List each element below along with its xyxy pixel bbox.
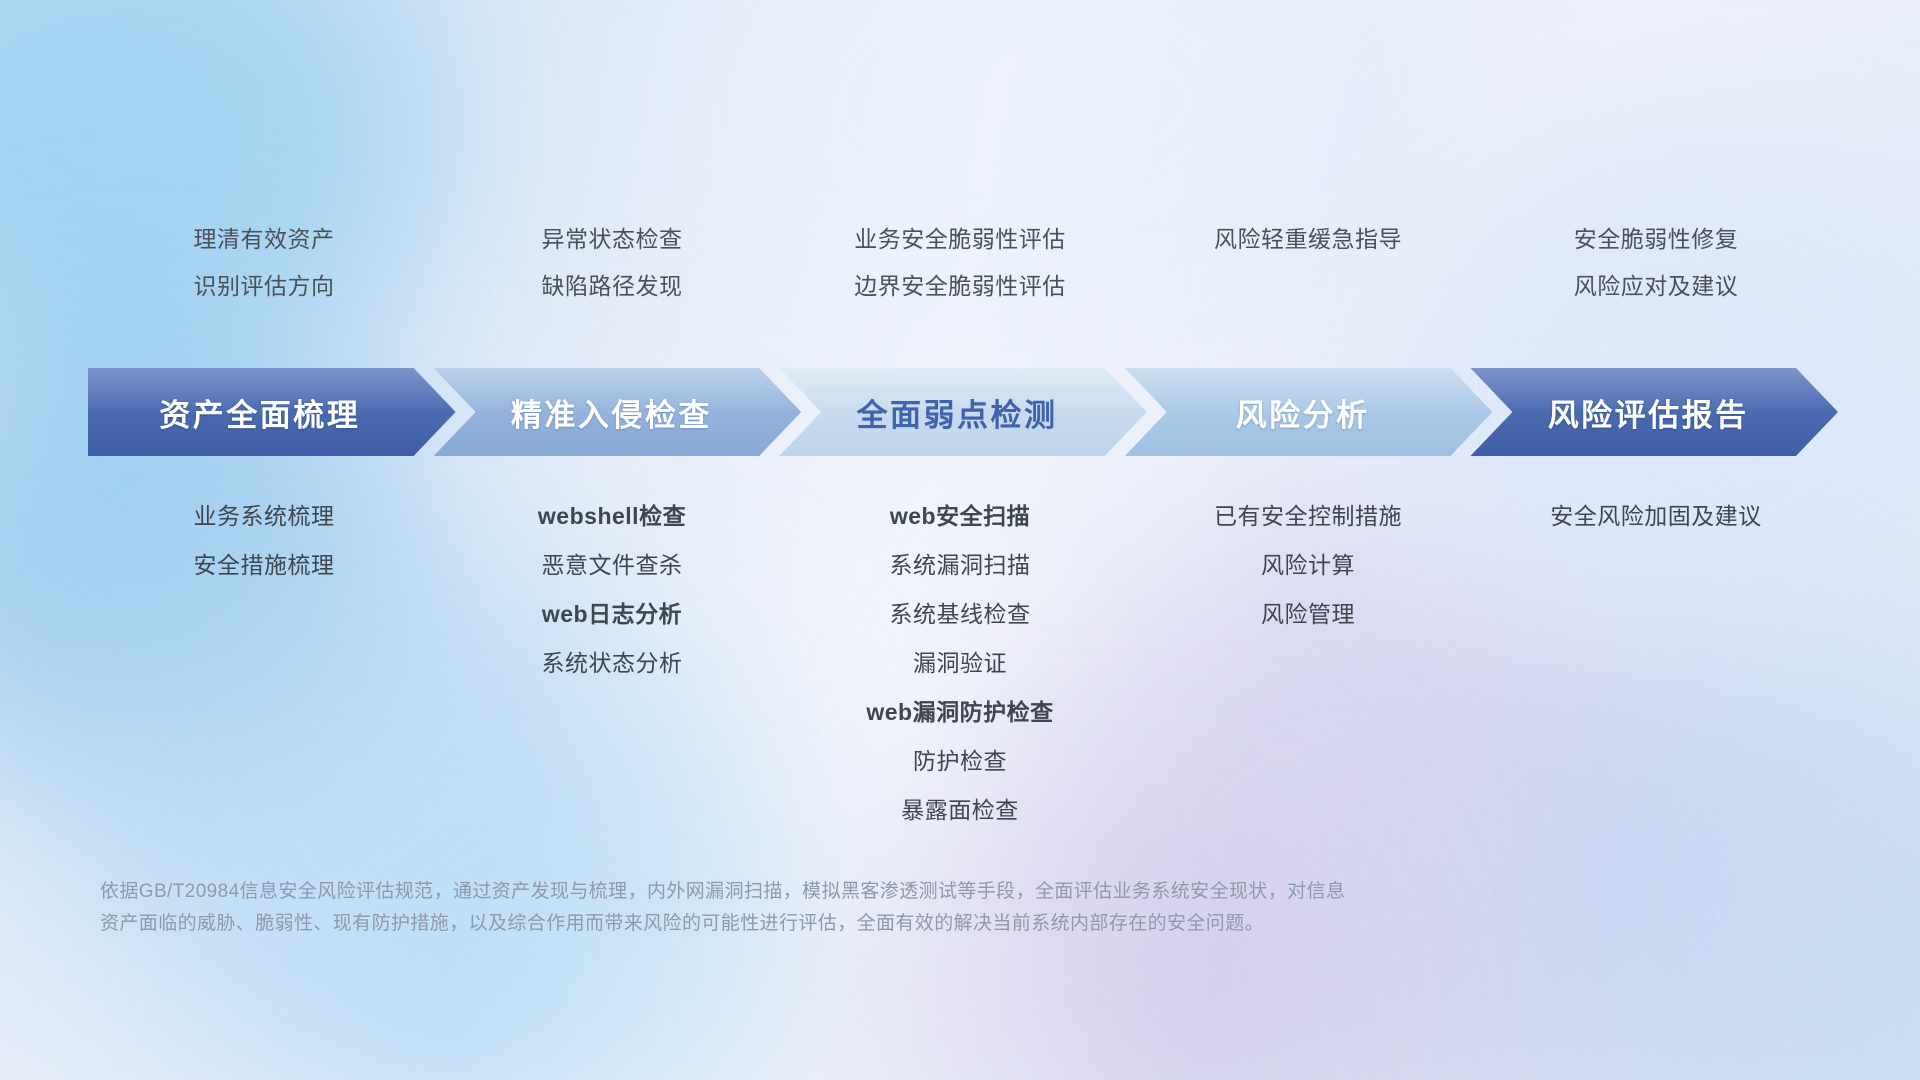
process-diagram: 理清有效资产识别评估方向异常状态检查缺陷路径发现业务安全脆弱性评估边界安全脆弱性… (0, 0, 1920, 1080)
bottom-column-asset-inventory: 业务系统梳理安全措施梳理 (90, 505, 438, 577)
activity-item: 风险管理 (1261, 603, 1355, 626)
process-step-risk-analysis[interactable]: 风险分析 (1125, 368, 1493, 456)
activity-item: 防护检查 (913, 750, 1007, 773)
activity-item: 系统漏洞扫描 (890, 554, 1031, 577)
top-item: 安全脆弱性修复 (1574, 228, 1739, 251)
process-step-label: 资产全面梳理 (159, 390, 360, 435)
activity-item: webshell检查 (538, 505, 686, 528)
top-item: 理清有效资产 (194, 228, 335, 251)
top-outcomes-row: 理清有效资产识别评估方向异常状态检查缺陷路径发现业务安全脆弱性评估边界安全脆弱性… (90, 228, 1830, 298)
bottom-column-intrusion-check: webshell检查恶意文件查杀web日志分析系统状态分析 (438, 505, 786, 675)
top-item: 边界安全脆弱性评估 (854, 275, 1066, 298)
bottom-column-assessment-report: 安全风险加固及建议 (1482, 505, 1830, 528)
activity-item: 暴露面检查 (901, 799, 1019, 822)
activity-item: 业务系统梳理 (194, 505, 335, 528)
bottom-column-risk-analysis: 已有安全控制措施风险计算风险管理 (1134, 505, 1482, 626)
top-item: 业务安全脆弱性评估 (854, 228, 1066, 251)
footer-description: 依据GB/T20984信息安全风险评估规范，通过资产发现与梳理，内外网漏洞扫描，… (100, 876, 1660, 940)
activity-item: 恶意文件查杀 (542, 554, 683, 577)
top-item: 识别评估方向 (194, 275, 335, 298)
process-step-asset-inventory[interactable]: 资产全面梳理 (88, 368, 456, 456)
activity-item: web漏洞防护检查 (866, 701, 1053, 724)
top-column-intrusion-check: 异常状态检查缺陷路径发现 (438, 228, 786, 298)
activity-item: 安全措施梳理 (194, 554, 335, 577)
activity-item: 已有安全控制措施 (1214, 505, 1402, 528)
activity-item: 漏洞验证 (913, 652, 1007, 675)
bottom-column-weakness-detection: web安全扫描系统漏洞扫描系统基线检查漏洞验证web漏洞防护检查防护检查暴露面检… (786, 505, 1134, 822)
process-step-label: 全面弱点检测 (856, 390, 1057, 435)
top-column-weakness-detection: 业务安全脆弱性评估边界安全脆弱性评估 (786, 228, 1134, 298)
top-item: 风险应对及建议 (1574, 275, 1739, 298)
process-step-assessment-report[interactable]: 风险评估报告 (1470, 368, 1838, 456)
top-item: 异常状态检查 (542, 228, 683, 251)
top-item: 风险轻重缓急指导 (1214, 228, 1402, 251)
activity-item: 系统基线检查 (890, 603, 1031, 626)
activity-item: 安全风险加固及建议 (1550, 505, 1762, 528)
process-step-weakness-detection[interactable]: 全面弱点检测 (779, 368, 1147, 456)
activity-item: 系统状态分析 (542, 652, 683, 675)
process-step-label: 风险分析 (1236, 390, 1370, 435)
top-item: 缺陷路径发现 (542, 275, 683, 298)
footer-line-2: 资产面临的威胁、脆弱性、现有防护措施，以及综合作用而带来风险的可能性进行评估，全… (100, 908, 1660, 940)
process-step-label: 精准入侵检查 (511, 390, 712, 435)
footer-line-1: 依据GB/T20984信息安全风险评估规范，通过资产发现与梳理，内外网漏洞扫描，… (100, 876, 1660, 908)
top-column-risk-analysis: 风险轻重缓急指导 (1134, 228, 1482, 298)
bottom-activities-row: 业务系统梳理安全措施梳理webshell检查恶意文件查杀web日志分析系统状态分… (90, 505, 1830, 822)
process-step-intrusion-check[interactable]: 精准入侵检查 (434, 368, 802, 456)
activity-item: 风险计算 (1261, 554, 1355, 577)
activity-item: web日志分析 (542, 603, 682, 626)
process-chevron-band: 资产全面梳理精准入侵检查全面弱点检测风险分析风险评估报告 (88, 368, 1838, 456)
top-column-assessment-report: 安全脆弱性修复风险应对及建议 (1482, 228, 1830, 298)
process-step-label: 风险评估报告 (1548, 390, 1749, 435)
activity-item: web安全扫描 (890, 505, 1030, 528)
top-column-asset-inventory: 理清有效资产识别评估方向 (90, 228, 438, 298)
